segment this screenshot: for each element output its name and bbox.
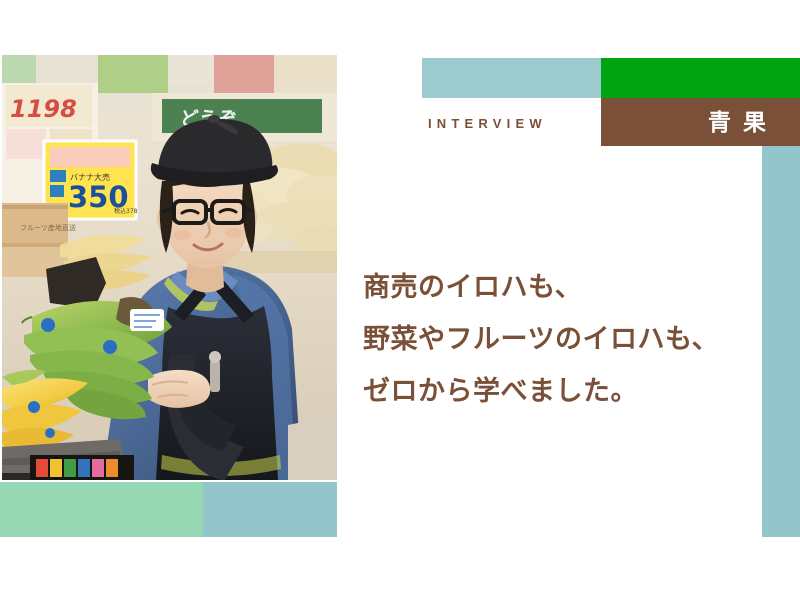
svg-text:1198: 1198 bbox=[10, 95, 77, 123]
svg-text:税込378: 税込378 bbox=[114, 207, 138, 215]
headline: 商売のイロハも、 野菜やフルーツのイロハも、 ゼロから学べました。 bbox=[363, 262, 783, 417]
headline-line-1: 商売のイロハも、 bbox=[363, 262, 783, 314]
interview-photo: どうぞ 1198 バナナ大売 350 税込378 bbox=[2, 55, 337, 480]
header-teal-bar bbox=[422, 58, 601, 98]
interview-eyebrow-label: INTERVIEW bbox=[428, 117, 547, 130]
headline-line-2: 野菜やフルーツのイロハも、 bbox=[363, 314, 783, 366]
category-badge-label: 青果 bbox=[696, 111, 778, 134]
header-green-bar bbox=[601, 58, 800, 98]
headline-line-3: ゼロから学べました。 bbox=[363, 366, 783, 418]
bottom-teal-accent-block bbox=[203, 482, 337, 537]
interview-page: どうぞ 1198 バナナ大売 350 税込378 bbox=[0, 0, 800, 600]
category-badge: 青果 bbox=[601, 98, 800, 146]
bottom-mint-accent-block bbox=[0, 482, 203, 537]
svg-text:フルーツ産地直送: フルーツ産地直送 bbox=[20, 223, 76, 232]
